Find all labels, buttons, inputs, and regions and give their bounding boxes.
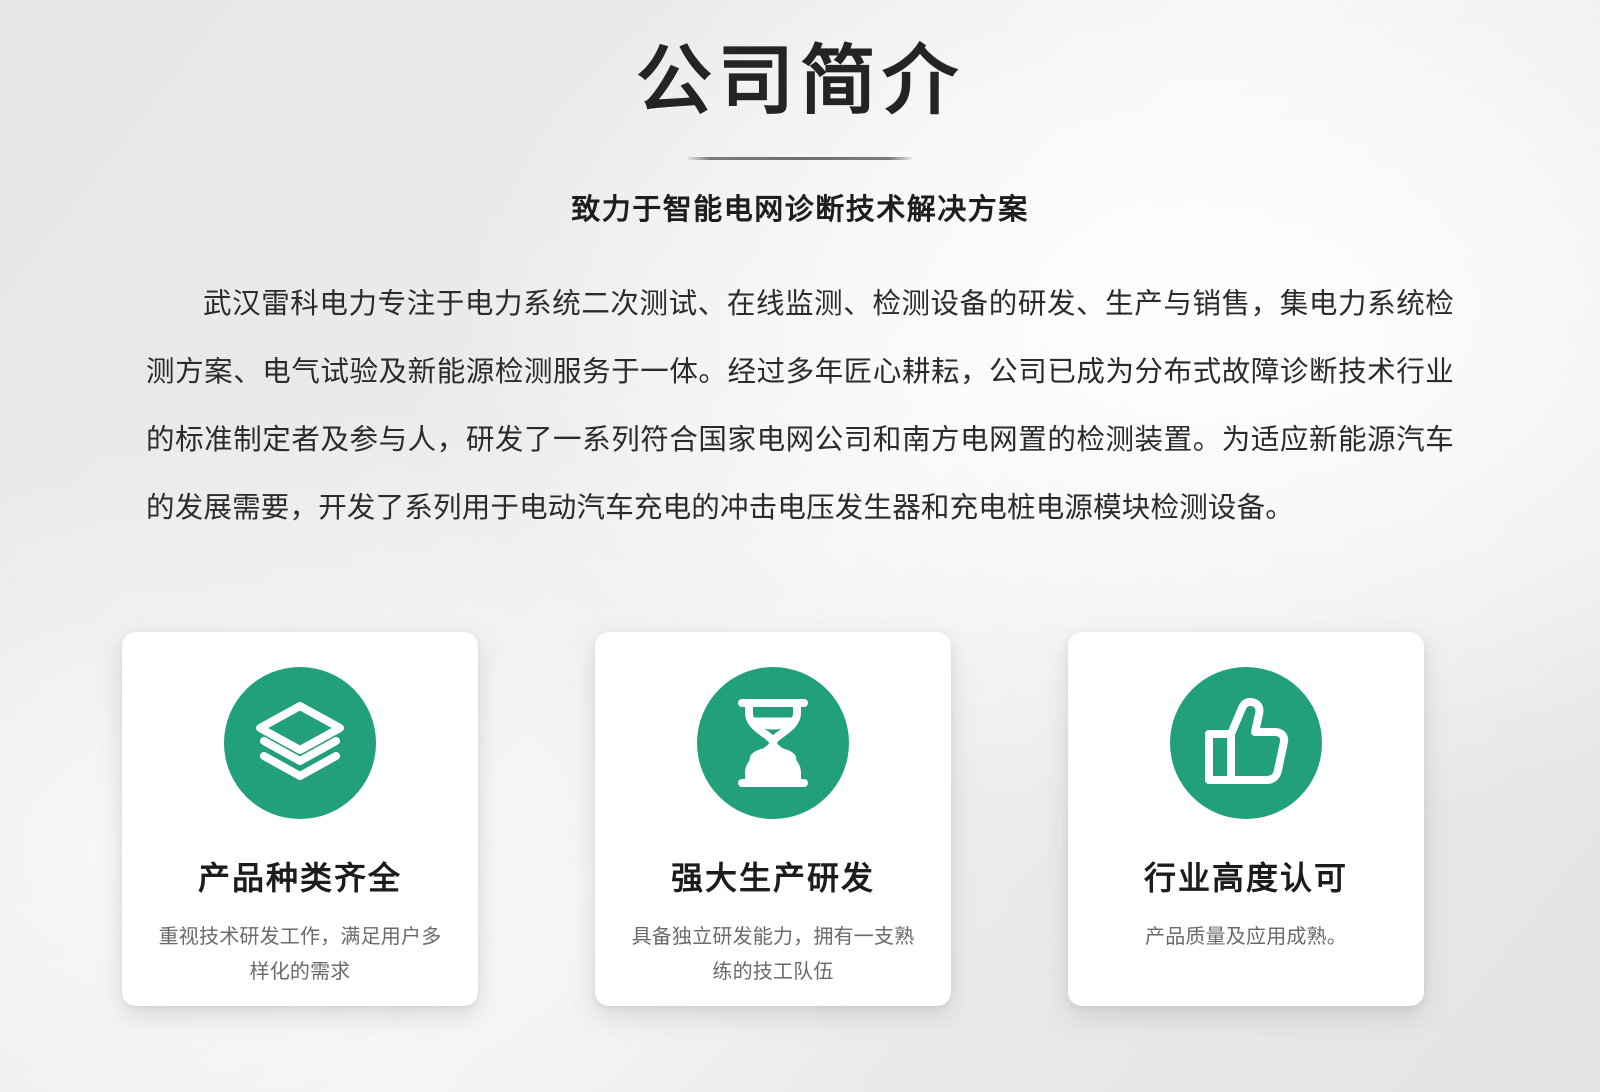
card-title: 行业高度认可 <box>1144 853 1348 899</box>
feature-cards: 产品种类齐全 重视技术研发工作，满足用户多样化的需求 <box>122 632 1424 1006</box>
icon-badge <box>224 667 376 819</box>
page-subtitle: 致力于智能电网诊断技术解决方案 <box>0 186 1600 228</box>
icon-badge <box>1170 667 1322 819</box>
page-header: 公司简介 致力于智能电网诊断技术解决方案 <box>0 0 1600 228</box>
intro-paragraph: 武汉雷科电力专注于电力系统二次测试、在线监测、检测设备的研发、生产与销售，集电力… <box>146 270 1454 542</box>
card-title: 强大生产研发 <box>671 853 875 899</box>
hourglass-icon <box>732 697 814 789</box>
feature-card-recognition[interactable]: 行业高度认可 产品质量及应用成熟。 <box>1068 632 1424 1006</box>
card-description: 重视技术研发工作，满足用户多样化的需求 <box>150 920 450 990</box>
feature-card-rnd[interactable]: 强大生产研发 具备独立研发能力，拥有一支熟练的技工队伍 <box>595 632 951 1006</box>
card-title: 产品种类齐全 <box>198 853 402 899</box>
layers-icon <box>254 700 346 786</box>
intro-section: 武汉雷科电力专注于电力系统二次测试、在线监测、检测设备的研发、生产与销售，集电力… <box>146 270 1454 542</box>
thumbs-up-icon <box>1201 698 1291 788</box>
company-profile-page: 公司简介 致力于智能电网诊断技术解决方案 武汉雷科电力专注于电力系统二次测试、在… <box>0 0 1600 1092</box>
page-title: 公司简介 <box>0 36 1600 129</box>
card-description: 具备独立研发能力，拥有一支熟练的技工队伍 <box>623 920 923 990</box>
card-description: 产品质量及应用成熟。 <box>1096 920 1396 955</box>
icon-badge <box>697 667 849 819</box>
title-divider <box>688 157 912 160</box>
feature-card-product-range[interactable]: 产品种类齐全 重视技术研发工作，满足用户多样化的需求 <box>122 632 478 1006</box>
